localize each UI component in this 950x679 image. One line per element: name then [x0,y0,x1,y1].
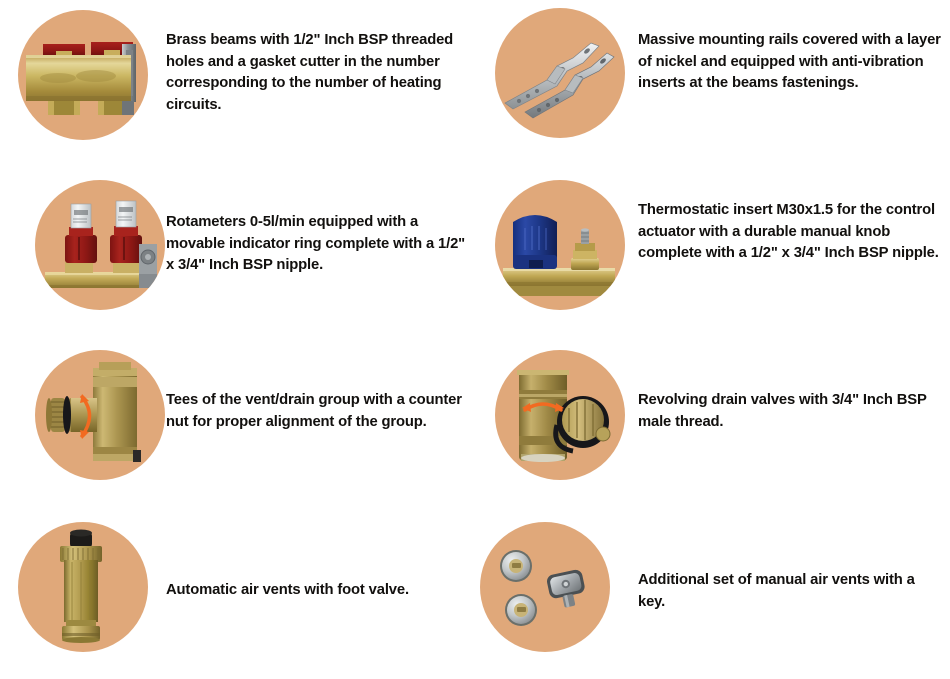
thumbnail-wrapper [0,340,170,510]
revolving-drain-valve-photo [495,350,625,480]
feature-caption: Additional set of manual air vents with … [638,510,950,613]
feature-caption: Thermostatic insert M30x1.5 for the cont… [638,170,950,265]
feature-caption: Tees of the vent/drain group with a coun… [166,340,475,433]
thumbnail-wrapper [0,170,170,340]
feature-item-automatic-air-vents: Automatic air vents with foot valve. [0,510,475,679]
feature-grid: Brass beams with 1/2" Inch BSP threaded … [0,0,950,679]
thumbnail-wrapper [0,0,170,170]
feature-caption: Rotameters 0-5l/min equipped with a mova… [166,170,475,277]
feature-caption: Automatic air vents with foot valve. [166,510,475,602]
vent-drain-tee-photo [35,350,165,480]
rotameter-flowmeter-photo [35,180,165,310]
thumbnail-wrapper [0,510,170,679]
feature-caption: Brass beams with 1/2" Inch BSP threaded … [166,0,475,116]
thermostatic-insert-photo [495,180,625,310]
thumbnail-wrapper [475,0,638,170]
manual-air-vents-with-key-photo [480,522,610,652]
feature-caption: Revolving drain valves with 3/4" Inch BS… [638,340,950,433]
feature-caption: Massive mounting rails covered with a la… [638,0,950,95]
automatic-air-vent-photo [18,522,148,652]
thumbnail-wrapper [475,510,638,679]
feature-item-drain-valves: Revolving drain valves with 3/4" Inch BS… [475,340,950,510]
feature-item-brass-beams: Brass beams with 1/2" Inch BSP threaded … [0,0,475,170]
brass-beam-manifold-photo [18,10,148,140]
feature-item-mounting-rails: Massive mounting rails covered with a la… [475,0,950,170]
feature-item-manual-air-vents: Additional set of manual air vents with … [475,510,950,679]
feature-item-rotameters: Rotameters 0-5l/min equipped with a mova… [0,170,475,340]
thumbnail-wrapper [475,340,638,510]
feature-item-thermostatic-insert: Thermostatic insert M30x1.5 for the cont… [475,170,950,340]
thumbnail-wrapper [475,170,638,340]
feature-item-vent-drain-tees: Tees of the vent/drain group with a coun… [0,340,475,510]
nickel-mounting-rails-photo [495,8,625,138]
